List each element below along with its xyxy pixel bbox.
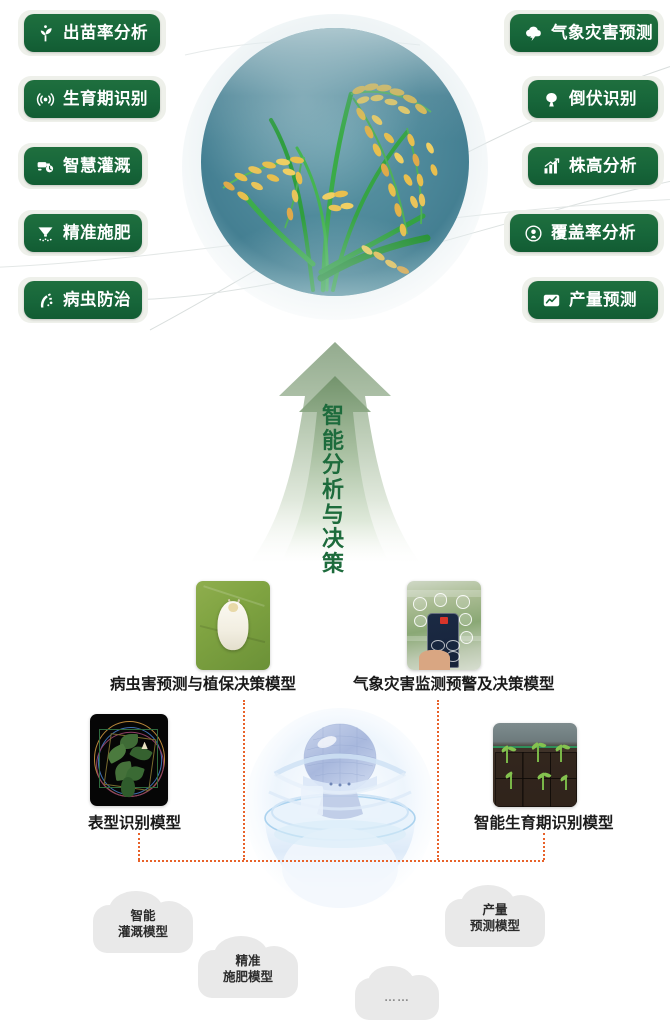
connector-weather-model <box>437 700 439 860</box>
hero-rice-circle <box>201 28 469 296</box>
cloud-line: 施肥模型 <box>223 970 273 986</box>
pill-label: 生育期识别 <box>63 91 148 108</box>
pill-lodging-recognition[interactable]: 倒伏识别 <box>528 80 658 118</box>
pill-label: 出苗率分析 <box>63 25 148 42</box>
connector-pest-model <box>243 700 245 860</box>
cloud-smart-irrigation-model[interactable]: 智能 灌溉模型 <box>93 891 193 953</box>
seedling-tray-photo <box>493 723 577 807</box>
pill-yield-forecast[interactable]: 产量预测 <box>528 281 658 319</box>
fertilizer-hopper-icon <box>35 223 56 244</box>
pill-label: 覆盖率分析 <box>551 225 636 242</box>
coverage-target-icon <box>523 223 544 244</box>
pill-emergence-rate-analysis[interactable]: 出苗率分析 <box>24 14 160 52</box>
arrow-char: 与 <box>316 503 350 528</box>
pill-plant-height-analysis[interactable]: 株高分析 <box>528 147 658 185</box>
signal-broadcast-icon <box>35 89 56 110</box>
pill-pest-control[interactable]: 病虫防治 <box>24 281 142 319</box>
pill-meteorological-disaster-forecast[interactable]: 气象灾害预测 <box>510 14 658 52</box>
cloud-line: 智能 <box>130 909 155 925</box>
cloud-line: 预测模型 <box>470 919 520 935</box>
bar-chart-up-icon <box>541 156 562 177</box>
pill-label: 智慧灌溉 <box>63 158 131 175</box>
pill-label: 产量预测 <box>569 292 637 309</box>
cloud-line: 产量 <box>482 903 507 919</box>
arrow-char: 决 <box>316 527 350 552</box>
model-label-growth: 智能生育期识别模型 <box>474 816 614 832</box>
cloud-text: …… <box>355 966 439 1020</box>
cloud-more-models[interactable]: …… <box>355 966 439 1020</box>
thumb-phenotype[interactable] <box>90 714 168 806</box>
pill-coverage-rate-analysis[interactable]: 覆盖率分析 <box>510 214 658 252</box>
cloud-precision-fertilization-model[interactable]: 精准 施肥模型 <box>198 936 298 998</box>
trend-line-icon <box>541 290 562 311</box>
cloud-text: 产量 预测模型 <box>445 885 545 947</box>
thumb-seedling[interactable] <box>493 723 577 807</box>
thumb-pest-moth[interactable] <box>196 581 270 670</box>
thumb-weather-iot[interactable] <box>407 581 481 670</box>
pest-moth-photo <box>196 581 270 670</box>
lodging-plant-icon <box>541 89 562 110</box>
arrow-char: 能 <box>316 429 350 454</box>
pest-spray-icon <box>35 290 56 311</box>
plant-phenotype-analysis-photo <box>90 714 168 806</box>
model-label-phenotype: 表型识别模型 <box>88 816 181 832</box>
pill-label: 精准施肥 <box>63 225 131 242</box>
cloud-text: 精准 施肥模型 <box>198 936 298 998</box>
pill-label: 倒伏识别 <box>569 91 637 108</box>
model-label-pest: 病虫害预测与植保决策模型 <box>110 677 296 693</box>
pill-growth-stage-recognition[interactable]: 生育期识别 <box>24 80 160 118</box>
infographic-canvas: 出苗率分析 生育期识别 智慧灌溉 精准施肥 病虫防治 气象灾害 <box>0 0 670 1032</box>
arrow-label: 智 能 分 析 与 决 策 <box>316 404 350 576</box>
connector-phenotype-model <box>138 833 140 860</box>
connector-growth-model <box>543 833 545 860</box>
cloud-yield-prediction-model[interactable]: 产量 预测模型 <box>445 885 545 947</box>
connector-horizontal-bus <box>138 860 544 862</box>
arrow-char: 分 <box>316 453 350 478</box>
cloud-line: …… <box>384 990 410 1005</box>
pill-smart-irrigation[interactable]: 智慧灌溉 <box>24 147 142 185</box>
smartphone-iot-greenhouse-photo <box>407 581 481 670</box>
irrigation-valve-icon <box>35 156 56 177</box>
arrow-char: 智 <box>316 404 350 429</box>
pill-label: 病虫防治 <box>63 292 131 309</box>
cloud-text: 智能 灌溉模型 <box>93 891 193 953</box>
pill-precision-fertilization[interactable]: 精准施肥 <box>24 214 142 252</box>
ai-head-crystal-ball <box>245 700 435 920</box>
seedling-icon <box>35 23 56 44</box>
pill-label: 株高分析 <box>569 158 637 175</box>
arrow-char: 策 <box>316 552 350 577</box>
cloud-line: 精准 <box>235 954 260 970</box>
cloud-lightning-icon <box>523 23 544 44</box>
pill-label: 气象灾害预测 <box>551 25 653 42</box>
cloud-line: 灌溉模型 <box>118 925 168 941</box>
model-label-weather: 气象灾害监测预警及决策模型 <box>353 677 555 693</box>
arrow-char: 析 <box>316 478 350 503</box>
